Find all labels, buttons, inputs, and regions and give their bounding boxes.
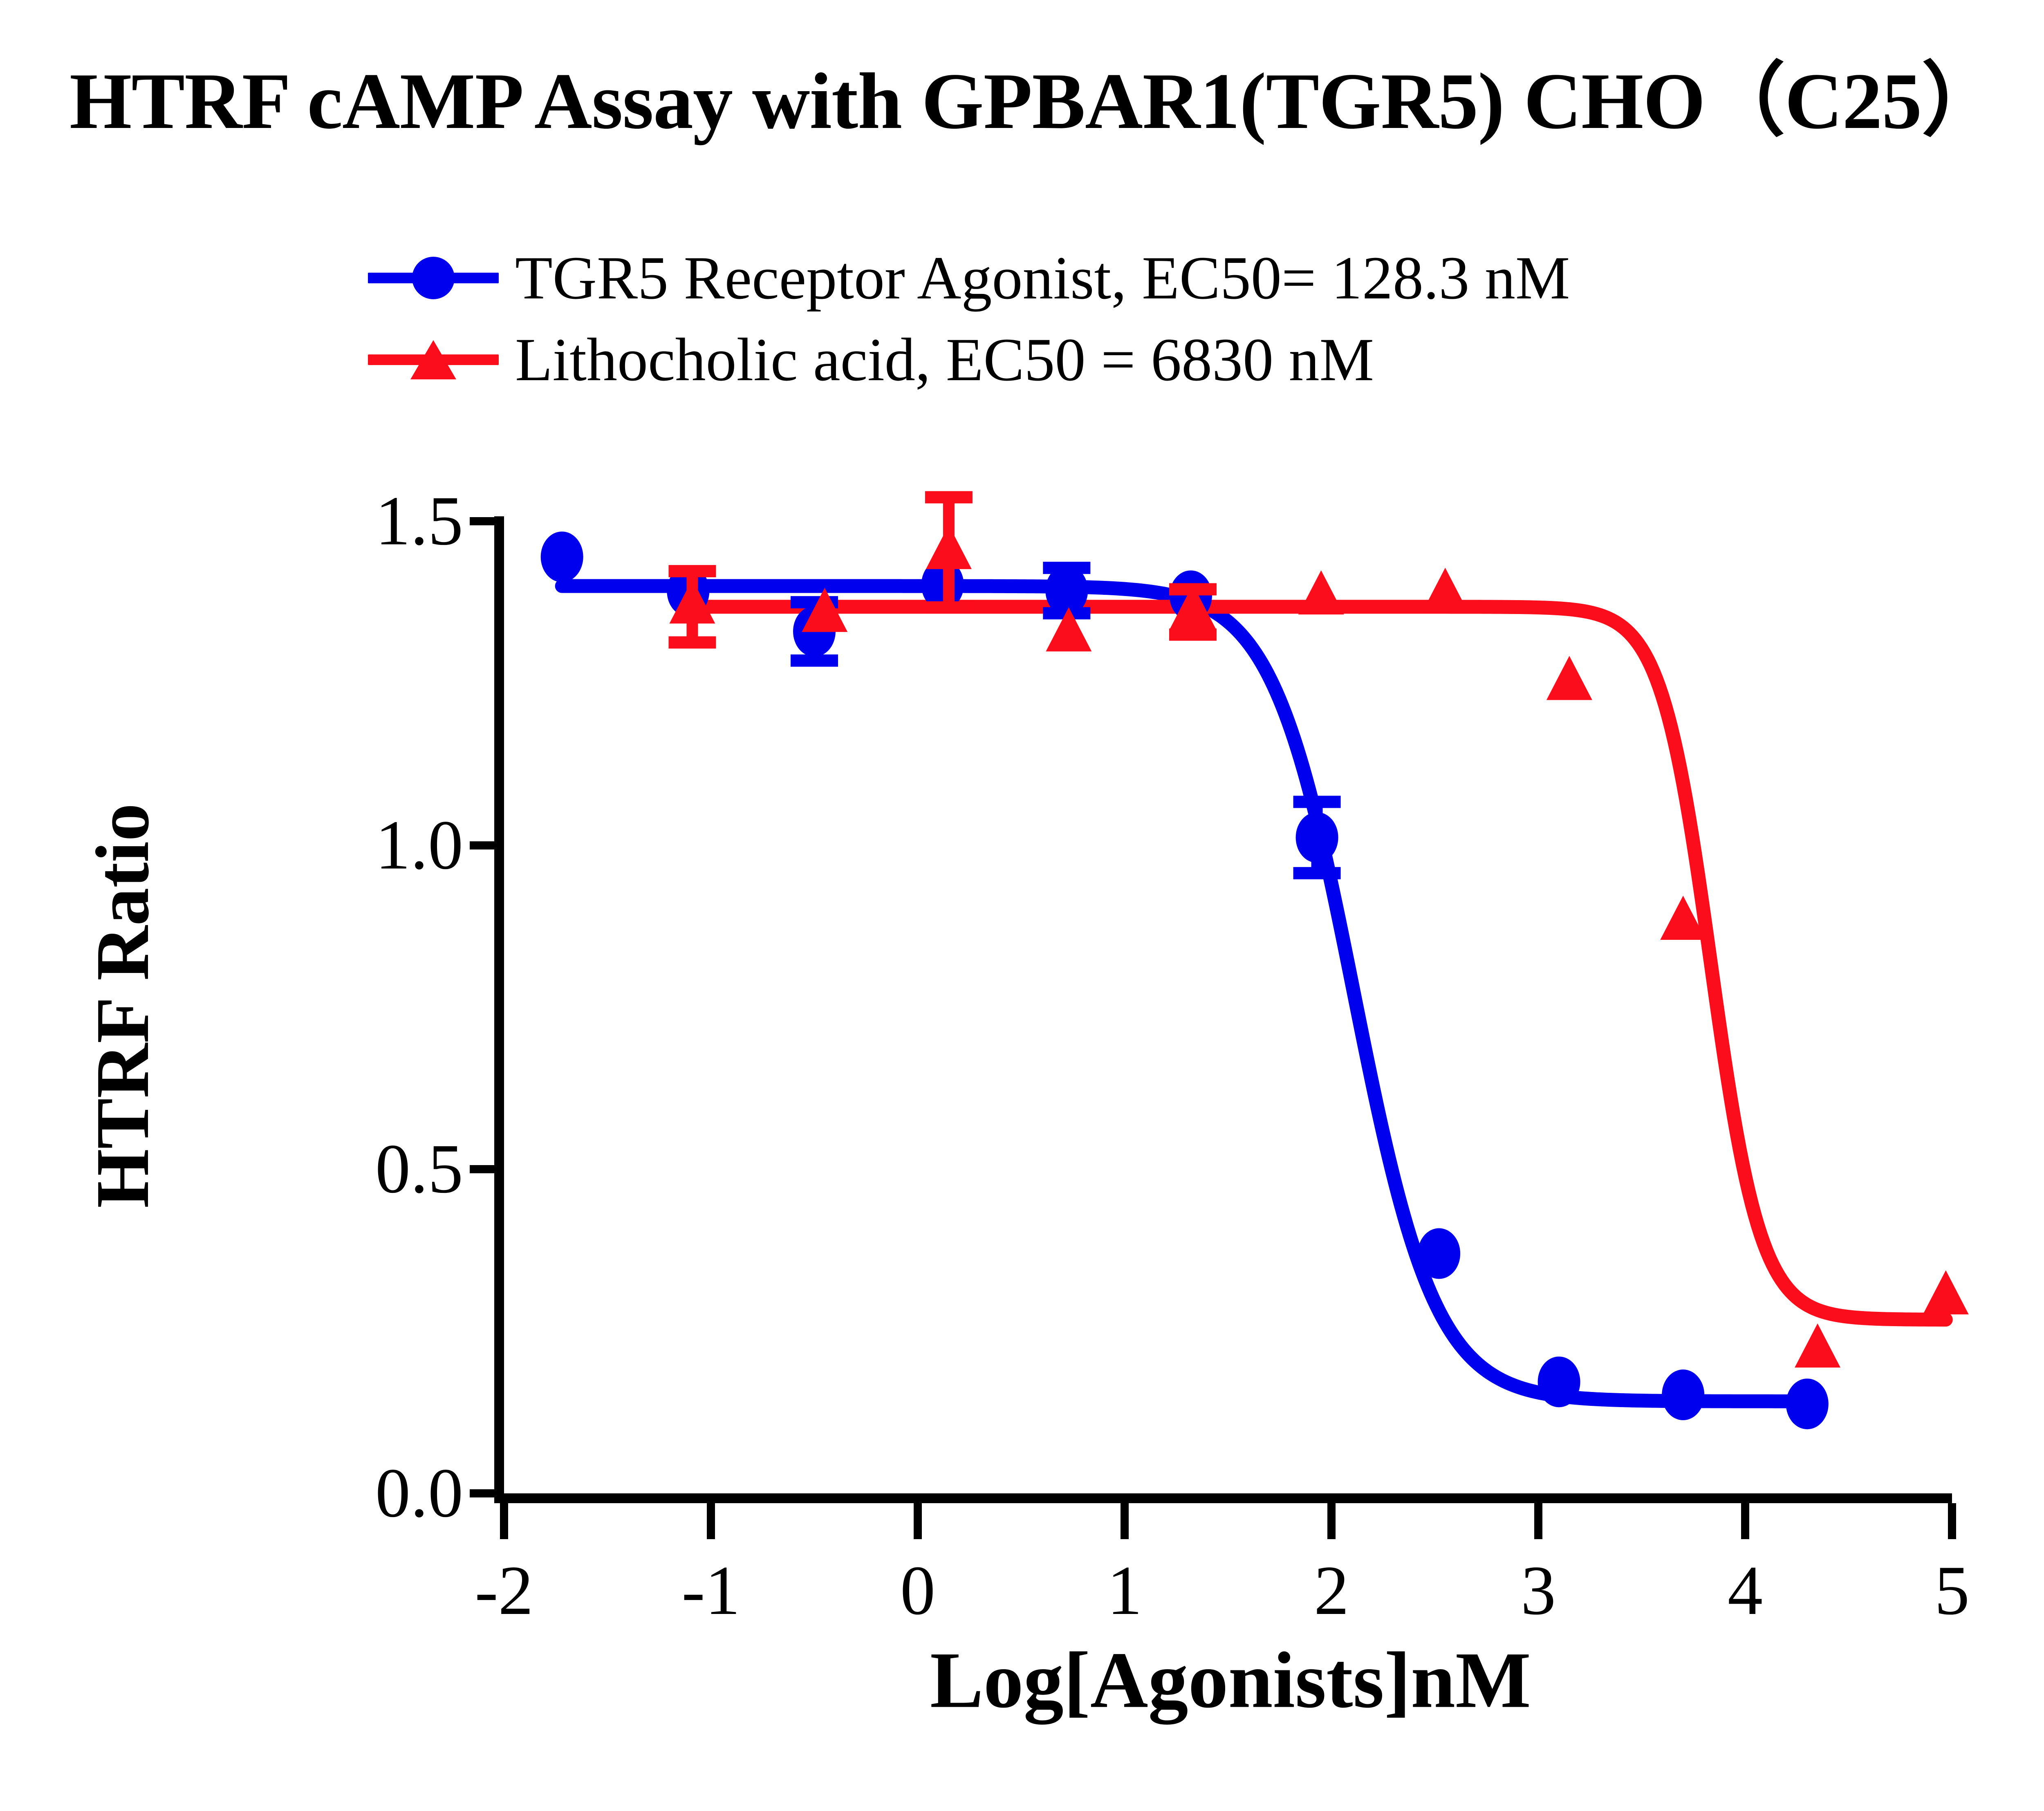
x-tick-label: 1 <box>1107 1551 1142 1631</box>
x-tick-mark <box>1948 1503 1956 1539</box>
x-tick-label: 2 <box>1314 1551 1349 1631</box>
legend: TGR5 Receptor Agonist, EC50= 128.3 nM Li… <box>368 237 2044 401</box>
y-axis-title: HTRF Ratio <box>79 803 166 1208</box>
x-axis-line <box>494 1493 1952 1503</box>
y-tick-mark <box>470 1489 494 1497</box>
page-title: HTRF cAMP Assay with GPBAR1(TGR5) CHO（C2… <box>69 61 2044 141</box>
chart-figure: HTRF cAMP Assay with GPBAR1(TGR5) CHO（C2… <box>0 0 2044 1811</box>
x-tick-mark <box>1121 1503 1129 1539</box>
circle-marker-icon <box>412 257 455 299</box>
x-tick-label: -1 <box>681 1551 740 1631</box>
x-tick-label: 5 <box>1934 1551 1970 1631</box>
legend-key-lithocholic <box>368 335 499 384</box>
triangle-marker-icon <box>410 340 456 379</box>
y-tick-mark <box>470 1165 494 1173</box>
x-tick-mark <box>1327 1503 1336 1539</box>
y-tick-mark <box>470 841 494 849</box>
x-tick-mark <box>1741 1503 1749 1539</box>
plot-area: 0.00.51.01.5 -2-1012345 <box>504 521 1952 1493</box>
x-axis-title: Log[Agonists]nM <box>930 1634 1531 1726</box>
x-tick-label: 3 <box>1521 1551 1556 1631</box>
y-tick-label: 0.0 <box>375 1453 463 1534</box>
x-tick-mark <box>500 1503 508 1539</box>
legend-item-lithocholic: Lithocholic acid, EC50 = 6830 nM <box>368 319 2044 401</box>
legend-item-tgr5: TGR5 Receptor Agonist, EC50= 128.3 nM <box>368 237 2044 319</box>
legend-label-tgr5: TGR5 Receptor Agonist, EC50= 128.3 nM <box>499 247 1570 309</box>
x-tick-label: 0 <box>900 1551 935 1631</box>
x-tick-label: -2 <box>475 1551 533 1631</box>
x-tick-mark <box>1534 1503 1542 1539</box>
y-tick-mark <box>470 517 494 525</box>
x-tick-mark <box>914 1503 922 1539</box>
y-tick-label: 1.5 <box>375 481 463 562</box>
y-tick-label: 0.5 <box>375 1129 463 1210</box>
legend-label-lithocholic: Lithocholic acid, EC50 = 6830 nM <box>499 329 1374 390</box>
legend-key-tgr5 <box>368 253 499 303</box>
y-tick-label: 1.0 <box>375 805 463 885</box>
y-axis-line <box>494 516 504 1498</box>
x-tick-mark <box>707 1503 715 1539</box>
x-tick-label: 4 <box>1728 1551 1763 1631</box>
